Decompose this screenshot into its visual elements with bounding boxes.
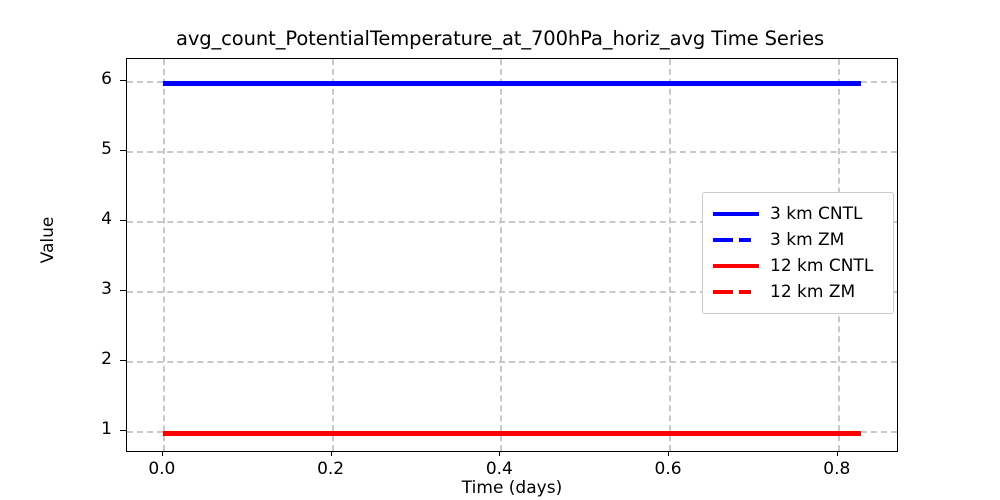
legend-item[interactable]: 3 km CNTL [713,201,883,227]
x-tick-mark [668,452,669,456]
gridline-vertical [163,59,165,451]
series-segment [690,431,778,436]
legend-swatch-icon [713,285,759,299]
series-segment [426,431,515,436]
series-segment [515,81,603,86]
legend-label: 3 km CNTL [770,204,862,224]
legend-item[interactable]: 12 km CNTL [713,253,883,279]
y-tick-mark [120,290,126,291]
legend-swatch-icon [713,233,759,247]
x-tick-label: 0.0 [122,459,202,479]
series-segment [778,431,861,436]
series-segment [338,81,426,86]
x-tick-label: 0.6 [628,459,708,479]
chart-title: avg_count_PotentialTemperature_at_700hPa… [0,27,1000,50]
series-segment [602,431,690,436]
gridline-vertical [669,59,671,451]
y-tick-mark [120,150,126,151]
legend-swatch-icon [713,207,759,221]
series-segment [163,431,251,436]
chart-figure: avg_count_PotentialTemperature_at_700hPa… [0,0,1000,500]
series-segment [690,81,778,86]
x-axis-label: Time (days) [126,478,898,498]
gridline-horizontal [127,151,897,153]
chart-legend[interactable]: 3 km CNTL3 km ZM12 km CNTL12 km ZM [702,192,894,314]
gridline-vertical [500,59,502,451]
y-tick-mark [120,80,126,81]
x-tick-mark [499,452,500,456]
series-segment [251,431,339,436]
legend-label: 3 km ZM [770,230,844,250]
y-tick-mark [120,360,126,361]
legend-label: 12 km CNTL [770,256,873,276]
x-tick-mark [162,452,163,456]
legend-label: 12 km ZM [770,282,855,302]
series-segment [602,81,690,86]
gridline-vertical [332,59,334,451]
y-tick-label: 4 [78,209,112,229]
x-tick-label: 0.8 [797,459,877,479]
gridline-horizontal [127,361,897,363]
series-segment [426,81,515,86]
legend-item[interactable]: 12 km ZM [713,279,883,305]
series-segment [163,81,251,86]
series-segment [338,431,426,436]
y-tick-mark [120,430,126,431]
legend-swatch-icon [713,259,759,273]
x-tick-mark [837,452,838,456]
y-axis-label: Value [38,160,58,320]
series-segment [515,431,603,436]
legend-item[interactable]: 3 km ZM [713,227,883,253]
series-segment [251,81,339,86]
y-tick-label: 5 [78,139,112,159]
y-tick-mark [120,220,126,221]
y-tick-label: 1 [78,419,112,439]
y-tick-label: 3 [78,279,112,299]
x-tick-mark [331,452,332,456]
x-tick-label: 0.2 [291,459,371,479]
y-tick-label: 6 [78,69,112,89]
x-tick-label: 0.4 [459,459,539,479]
y-tick-label: 2 [78,349,112,369]
series-segment [778,81,861,86]
